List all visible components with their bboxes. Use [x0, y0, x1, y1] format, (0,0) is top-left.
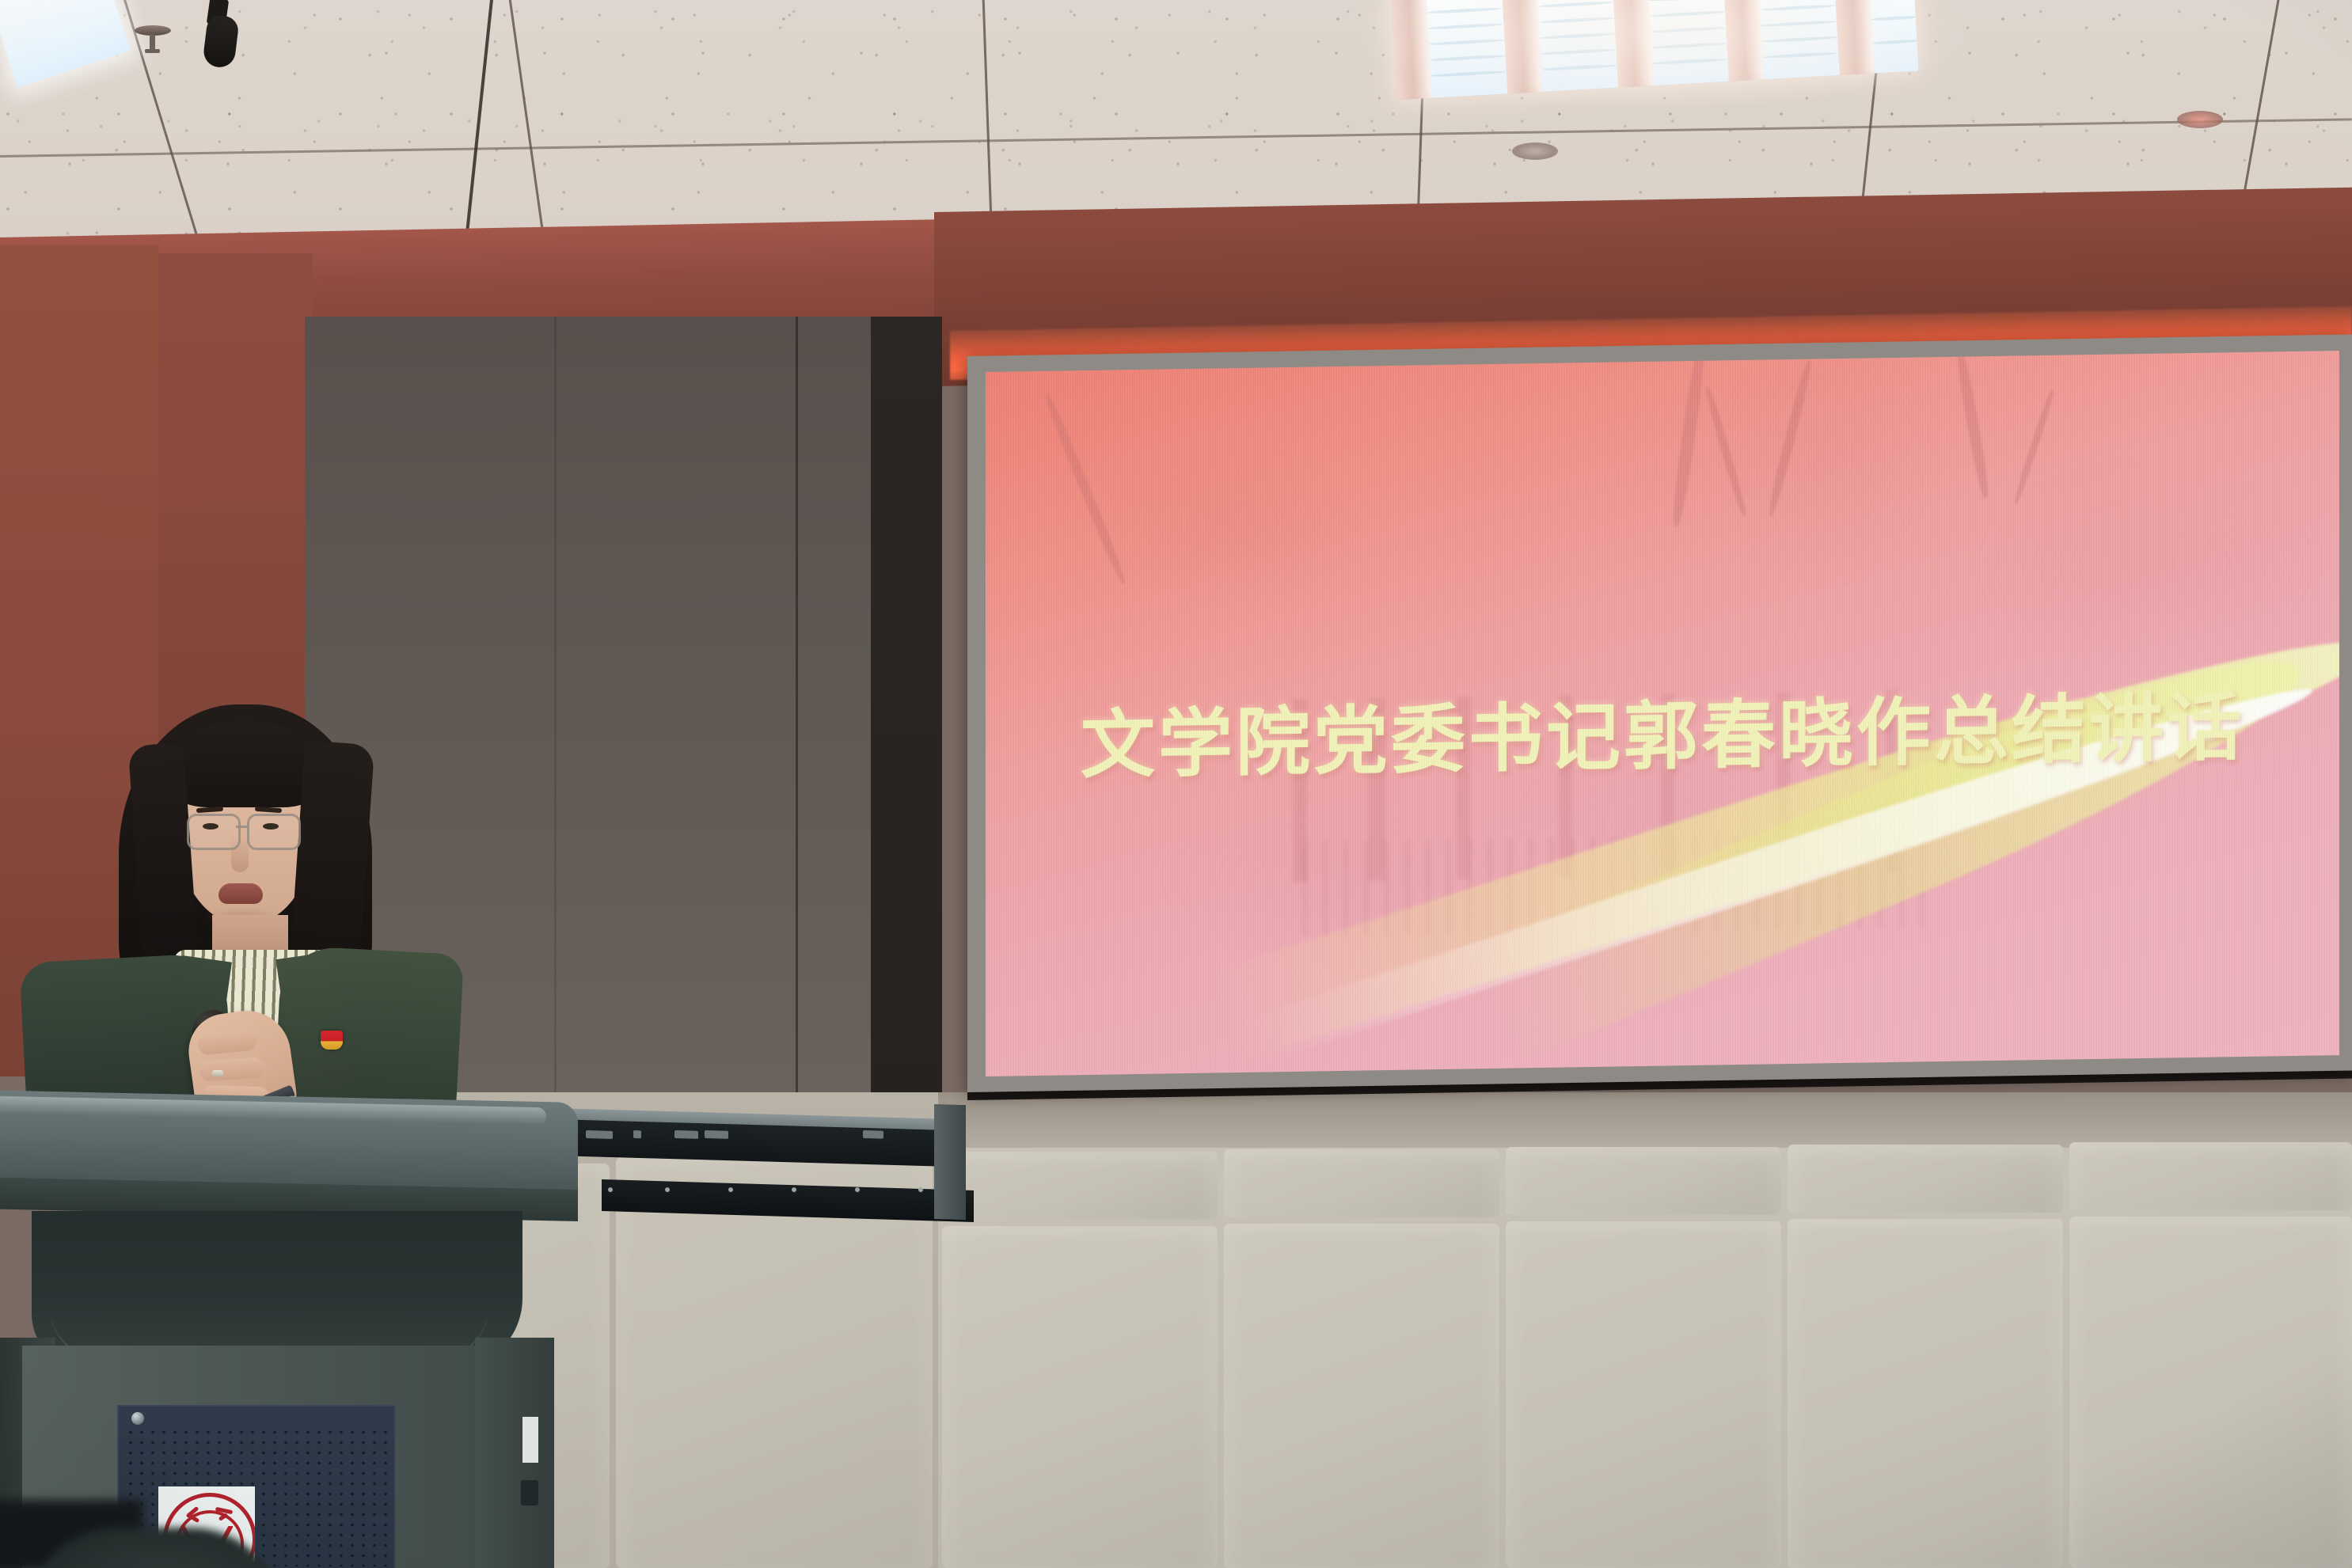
wall-pad	[942, 1152, 1218, 1220]
nose	[231, 836, 249, 872]
av-rail-end-cap	[934, 1104, 966, 1220]
podium-right-face	[475, 1338, 554, 1568]
ceiling-microphone-icon	[202, 0, 238, 71]
av-rail-port[interactable]	[705, 1130, 728, 1139]
glasses-icon	[247, 814, 301, 850]
slide-title: 文学院党委书记郭春晓作总结讲话	[986, 666, 2339, 795]
wall-pad	[2069, 1142, 2352, 1210]
podium-card-slot[interactable]	[521, 1480, 538, 1505]
glasses-bridge	[236, 826, 247, 828]
wall-pad	[1224, 1149, 1499, 1217]
padded-wall-top-rail	[934, 1092, 2352, 1148]
downlight-icon	[2177, 111, 2223, 128]
finger-ring	[212, 1070, 223, 1076]
wall-pad	[942, 1226, 1218, 1568]
wall-pad	[1224, 1224, 1499, 1568]
projection-screen: 文学院党委书记郭春晓作总结讲话	[986, 351, 2339, 1076]
wall-pad	[1788, 1145, 2063, 1213]
wall-pad	[1788, 1219, 2063, 1568]
downlight-icon	[1512, 142, 1558, 160]
photo-scene: 文学院党委书记郭春晓作总结讲话	[0, 0, 2352, 1568]
podium-lock-icon[interactable]	[131, 1412, 144, 1425]
podium-recess-arc	[47, 1235, 491, 1364]
av-rail-port[interactable]	[863, 1130, 883, 1139]
speaker-person	[79, 697, 443, 1140]
party-emblem-pin	[321, 1031, 343, 1050]
wall-panel-seam	[796, 317, 798, 1092]
screen-left-shadow-strip	[871, 317, 942, 1148]
av-rail-port[interactable]	[674, 1130, 698, 1139]
podium-side-label	[522, 1417, 538, 1463]
wall-pad	[1506, 1147, 1781, 1215]
wall-pad	[1506, 1221, 1781, 1568]
mouth	[218, 883, 263, 904]
wall-panel-seam	[554, 317, 557, 1092]
av-rail-port[interactable]	[586, 1130, 613, 1139]
wall-pad	[2069, 1217, 2352, 1568]
av-rail-port[interactable]	[633, 1130, 641, 1138]
sprinkler-icon	[135, 25, 171, 52]
